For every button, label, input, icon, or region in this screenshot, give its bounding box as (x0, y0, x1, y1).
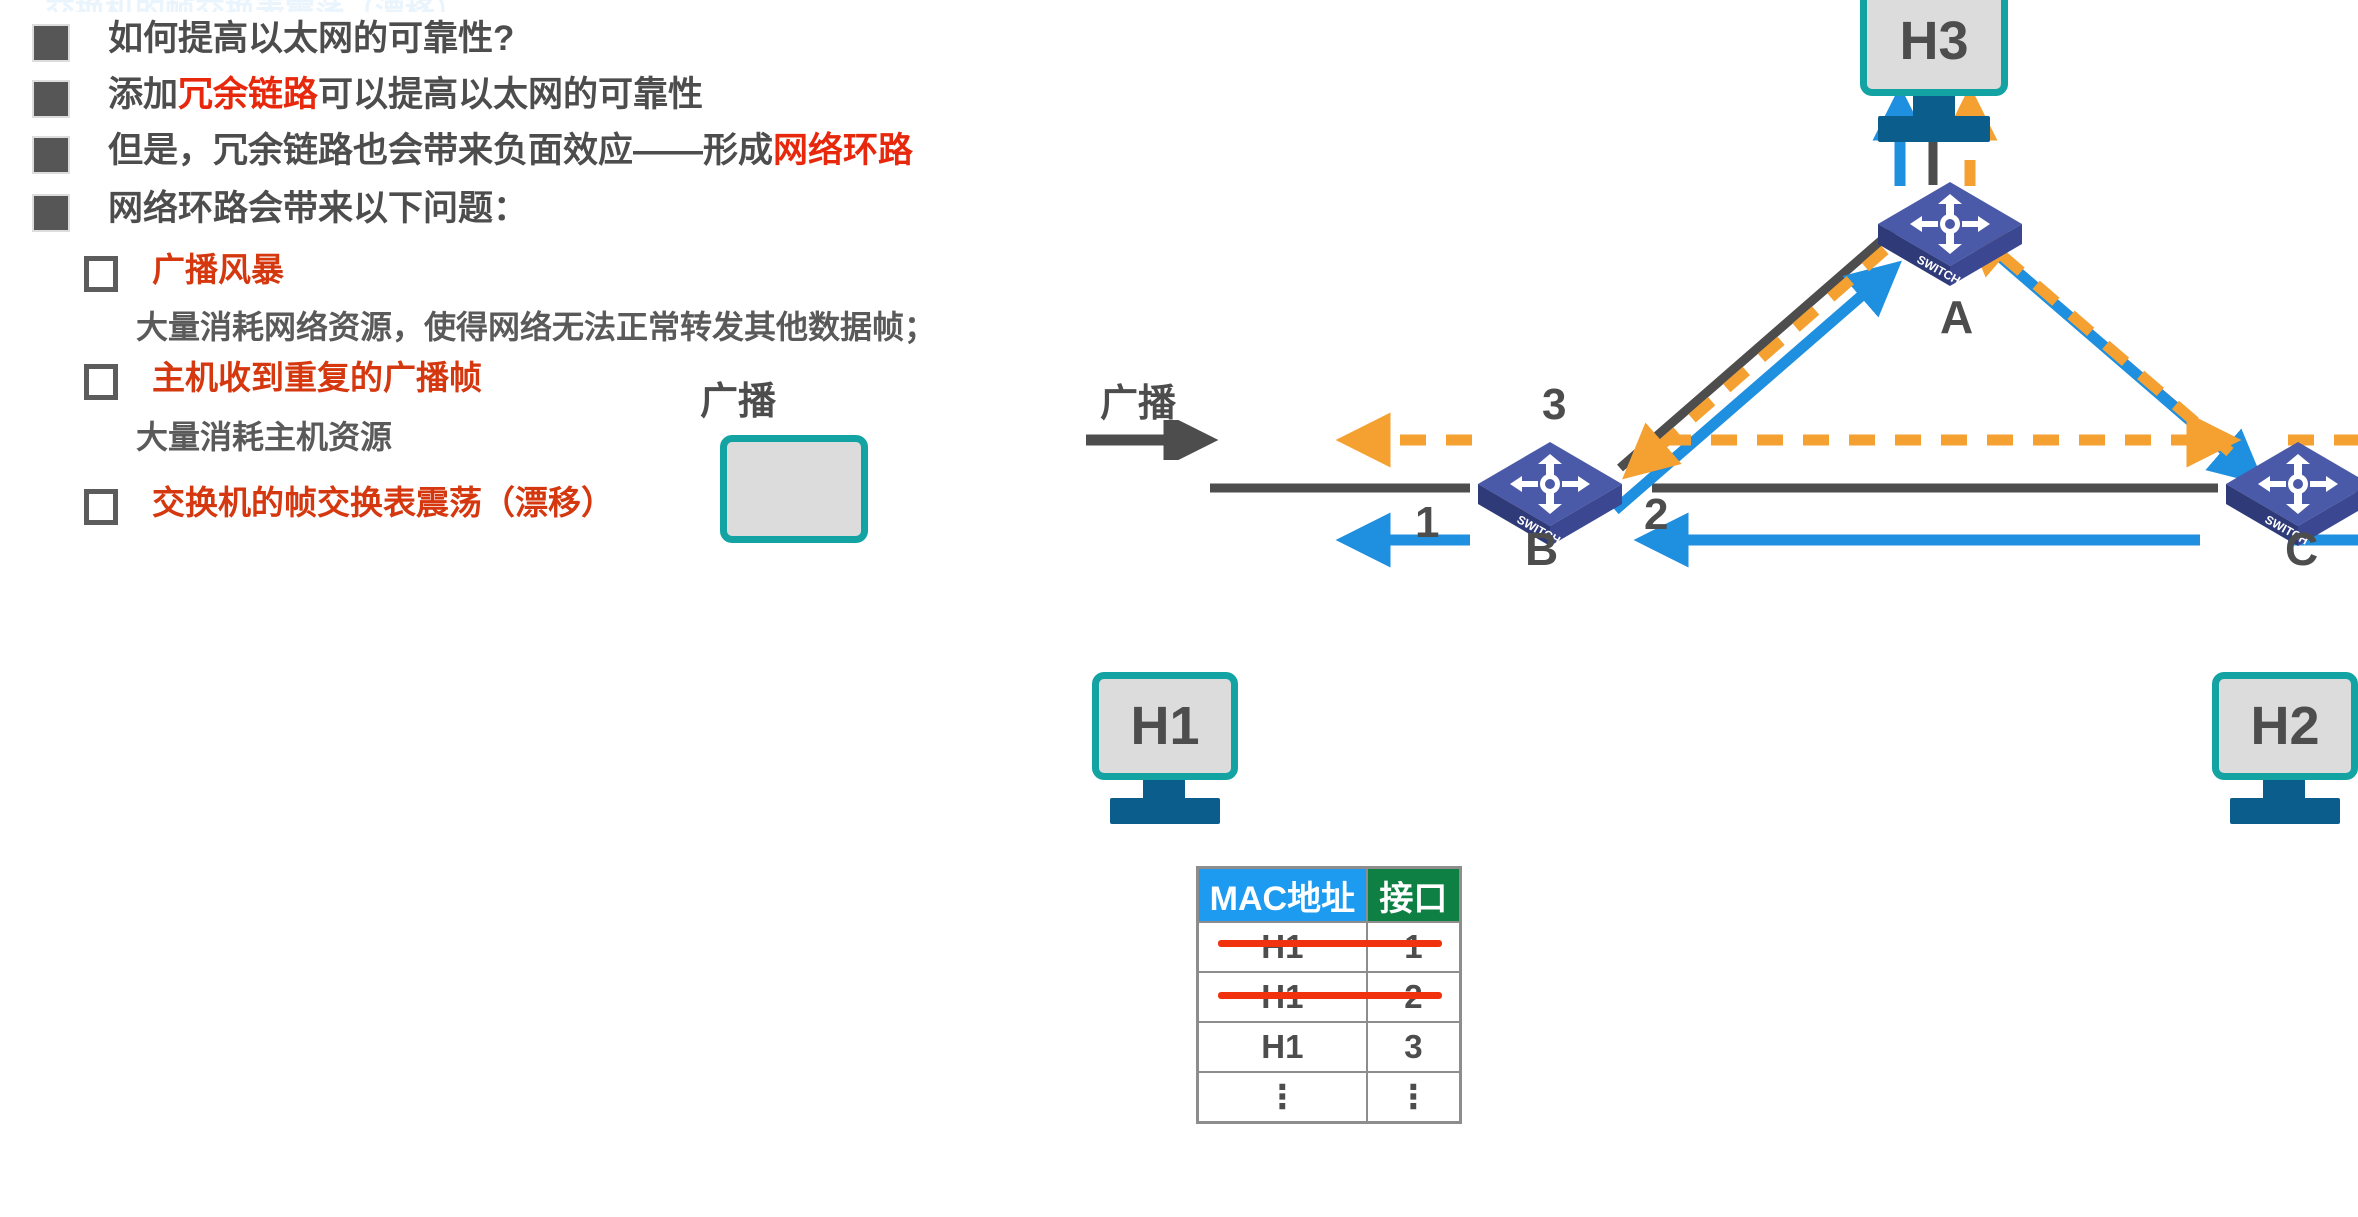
mac-cell: H1 (1198, 1022, 1367, 1072)
filled-square-bullet-icon (32, 136, 70, 174)
sub-item-2-desc: 大量消耗主机资源 (136, 412, 392, 458)
filled-square-bullet-icon (32, 194, 70, 232)
sub-item-1: 广播风暴 (84, 252, 284, 292)
host-h2-foot (2230, 798, 2340, 824)
port-cell: 3 (1367, 1022, 1461, 1072)
switch-a-label: A (1940, 290, 1973, 344)
sub-item-1-title: 广播风暴 (152, 252, 284, 288)
physical-links (1040, 0, 1144, 250)
mac-table-row: H1 3 (1198, 1022, 1461, 1072)
mac-table-header-mac: MAC地址 (1198, 868, 1367, 923)
host-h3[interactable]: H3 (1860, 0, 2008, 96)
bullet-1-text: 如何提高以太网的可靠性? (108, 20, 514, 59)
host-h3-foot (1878, 116, 1990, 142)
host-h1[interactable] (720, 435, 868, 543)
host-h2-stand (2263, 780, 2305, 798)
sub-item-2: 主机收到重复的广播帧 (84, 360, 482, 400)
strikethrough-row-2 (1218, 992, 1442, 999)
bullet-item-3: 但是，冗余链路也会带来负面效应——形成网络环路 (32, 132, 913, 174)
bullet-2-text: 添加冗余链路可以提高以太网的可靠性 (108, 76, 703, 115)
switch-c[interactable]: SWITCH (2218, 438, 2346, 526)
host-h3-label: H3 (1899, 14, 1968, 68)
hollow-square-bullet-icon (84, 489, 118, 525)
host-h1-box[interactable]: H1 (1092, 672, 1238, 780)
host-h2-box[interactable]: H2 (2212, 672, 2358, 780)
port-label-3: 3 (1542, 380, 1566, 430)
broadcast-caption: 广播 (1100, 372, 1176, 427)
bullet-4-text: 网络环路会带来以下问题： (108, 190, 528, 229)
switch-b[interactable]: SWITCH (1470, 438, 1598, 526)
host-h1-foot (1110, 798, 1220, 824)
orange-a-to-b (1642, 250, 1885, 462)
bullet-3-text: 但是，冗余链路也会带来负面效应——形成网络环路 (108, 132, 913, 171)
slide-text-column: 交换机的帧交换表震荡（漂移） 如何提高以太网的可靠性? 添加冗余链路可以提高以太… (0, 0, 1100, 1217)
switch-a-icon: SWITCH (1870, 178, 2030, 290)
blue-b-to-a (1615, 278, 1882, 510)
host-h1-label: H1 (1130, 699, 1199, 753)
port-cell-ellipsis: ⋮ (1367, 1072, 1461, 1123)
mac-table-row: H1 1 (1198, 922, 1461, 972)
link-a-b (1620, 225, 1899, 468)
hollow-square-bullet-icon (84, 364, 118, 400)
port-label-2: 2 (1644, 490, 1668, 540)
host-h2-label: H2 (2250, 699, 2319, 753)
sub-item-3-title: 交换机的帧交换表震荡（漂移） (152, 485, 614, 521)
filled-square-bullet-icon (32, 24, 70, 62)
switch-c-label: C (2285, 522, 2318, 576)
broadcast-direction-arrow (1080, 420, 1280, 460)
port-label-1: 1 (1415, 498, 1439, 548)
bullet-item-1: 如何提高以太网的可靠性? (32, 20, 514, 62)
mac-table-header-port: 接口 (1367, 868, 1461, 923)
switch-a[interactable]: SWITCH (1870, 178, 1998, 266)
mac-cell-ellipsis: ⋮ (1198, 1072, 1367, 1123)
host-h3-stand (1913, 96, 1955, 116)
broadcast-label: 广播 (700, 370, 776, 425)
bullet-item-2: 添加冗余链路可以提高以太网的可靠性 (32, 76, 703, 118)
sub-item-2-title: 主机收到重复的广播帧 (152, 360, 482, 396)
sub-item-3: 交换机的帧交换表震荡（漂移） (84, 485, 614, 525)
strikethrough-row-1 (1218, 940, 1442, 947)
orange-flow-arrows (1362, 112, 2358, 462)
bullet-item-4: 网络环路会带来以下问题： (32, 190, 528, 232)
host-h1-stand (1143, 780, 1185, 798)
filled-square-bullet-icon (32, 80, 70, 118)
mac-table-header-row: MAC地址 接口 (1198, 868, 1461, 923)
mac-table-row: ⋮ ⋮ (1198, 1072, 1461, 1123)
hollow-square-bullet-icon (84, 256, 118, 292)
sub-item-1-desc: 大量消耗网络资源，使得网络无法正常转发其他数据帧； (136, 302, 936, 348)
cut-off-title: 交换机的帧交换表震荡（漂移） (45, 0, 805, 12)
mac-cell: H1 (1198, 922, 1367, 972)
switch-b-label: B (1525, 522, 1558, 576)
port-cell: 1 (1367, 922, 1461, 972)
